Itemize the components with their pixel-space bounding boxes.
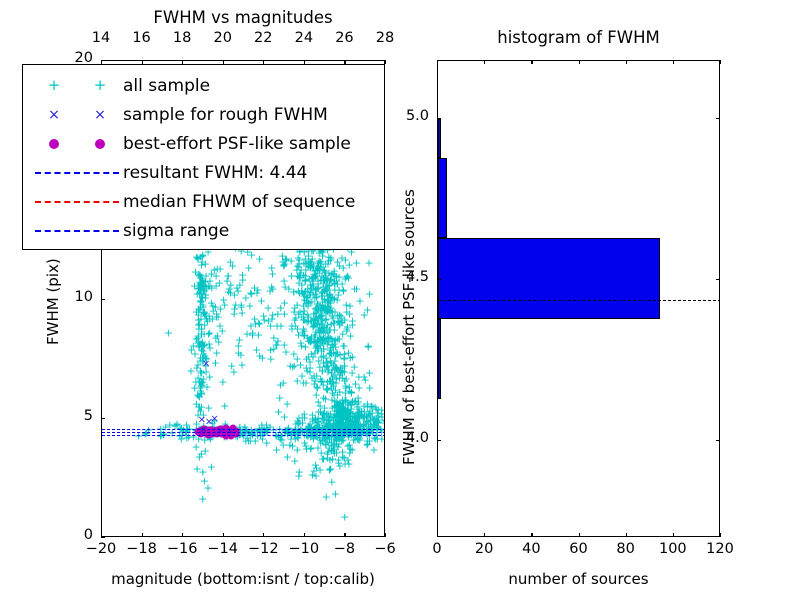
scatter-point-all-sample: + — [350, 398, 359, 407]
scatter-point-all-sample: + — [343, 455, 352, 464]
legend-marker-plus-icon: ++ — [31, 76, 123, 96]
scatter-point-all-sample: + — [326, 464, 335, 473]
right-x-tick — [626, 60, 627, 64]
scatter-point-all-sample: + — [365, 384, 374, 393]
scatter-point-all-sample: + — [194, 269, 203, 278]
legend-dot-icon — [49, 139, 59, 149]
scatter-point-all-sample: + — [317, 291, 326, 300]
legend-item-3: resultant FWHM: 4.44 — [31, 158, 374, 187]
right-y-tick — [437, 118, 441, 119]
scatter-point-rough-fwhm: × — [210, 415, 218, 424]
figure-canvas: FWHM vs magnitudes +++++++++++++++++++++… — [0, 0, 800, 600]
scatter-point-all-sample: + — [198, 495, 207, 504]
left-x-tick — [304, 533, 305, 537]
legend-marker-dot-icon — [31, 134, 123, 154]
scatter-point-all-sample: + — [251, 319, 260, 328]
scatter-point-all-sample: + — [193, 465, 202, 474]
scatter-point-all-sample: + — [263, 303, 272, 312]
right-x-tick — [579, 60, 580, 64]
scatter-point-all-sample: + — [304, 252, 313, 261]
right-x-tick — [531, 60, 532, 64]
right-yaxis-label: FWHM of best-effort PSF-like sources — [400, 189, 418, 465]
histogram-data-layer — [438, 61, 719, 536]
legend-item-label: resultant FWHM: 4.44 — [123, 163, 307, 183]
scatter-point-all-sample: + — [218, 378, 227, 387]
scatter-point-all-sample: + — [196, 297, 205, 306]
right-x-tick — [531, 533, 532, 537]
right-panel-title: histogram of FWHM — [437, 28, 720, 47]
left-x-tick — [385, 60, 386, 64]
scatter-point-all-sample: + — [313, 443, 322, 452]
scatter-point-all-sample: + — [369, 445, 378, 454]
scatter-point-all-sample: + — [350, 363, 359, 372]
scatter-point-all-sample: + — [365, 368, 374, 377]
scatter-point-all-sample: + — [327, 335, 336, 344]
scatter-point-all-sample: + — [286, 361, 295, 370]
scatter-point-all-sample: + — [339, 286, 348, 295]
scatter-point-all-sample: + — [359, 413, 368, 422]
scatter-point-all-sample: + — [347, 429, 356, 438]
histogram-bar — [438, 319, 441, 400]
scatter-point-all-sample: + — [229, 368, 238, 377]
right-y-tick — [716, 279, 720, 280]
scatter-point-all-sample: + — [330, 266, 339, 275]
left-bottom-tick-label: −6 — [359, 541, 411, 557]
scatter-point-all-sample: + — [238, 275, 247, 284]
scatter-point-all-sample: + — [203, 483, 212, 492]
right-x-tick-label: 120 — [694, 541, 746, 557]
right-x-tick — [484, 60, 485, 64]
legend-marker-cross-icon: ×× — [31, 105, 123, 125]
legend-box: ++all sample××sample for rough FWHMbest-… — [22, 64, 385, 250]
scatter-point-all-sample: + — [322, 492, 331, 501]
scatter-point-all-sample: + — [204, 329, 213, 338]
scatter-point-all-sample: + — [197, 450, 206, 459]
right-x-tick — [673, 533, 674, 537]
scatter-point-all-sample: + — [315, 249, 324, 258]
scatter-point-all-sample: + — [234, 348, 243, 357]
left-xaxis-label: magnitude (bottom:isnt / top:calib) — [101, 570, 385, 588]
scatter-point-all-sample: + — [311, 460, 320, 469]
scatter-point-all-sample: + — [348, 321, 357, 330]
legend-line-sample — [35, 230, 119, 232]
scatter-point-all-sample: + — [325, 443, 334, 452]
left-y-tick-label: 0 — [45, 527, 93, 543]
right-x-tick — [626, 533, 627, 537]
right-x-tick — [484, 533, 485, 537]
scatter-point-all-sample: + — [283, 453, 292, 462]
left-x-tick — [385, 533, 386, 537]
scatter-point-all-sample: + — [220, 401, 229, 410]
scatter-point-all-sample: + — [317, 307, 326, 316]
histogram-median-line — [438, 300, 719, 301]
left-top-tick-label: 28 — [359, 30, 411, 46]
legend-item-4: median FHWM of sequence — [31, 187, 374, 216]
scatter-point-all-sample: + — [294, 471, 303, 480]
scatter-point-all-sample: + — [343, 271, 352, 280]
legend-item-1: ××sample for rough FWHM — [31, 100, 374, 129]
scatter-point-all-sample: + — [352, 259, 361, 268]
left-y-tick — [101, 418, 105, 419]
scatter-point-all-sample: + — [237, 360, 246, 369]
right-y-tick — [437, 279, 441, 280]
legend-line-icon — [31, 192, 123, 212]
left-x-tick — [263, 533, 264, 537]
left-x-tick — [182, 533, 183, 537]
left-y-tick — [101, 299, 105, 300]
legend-item-label: sample for rough FWHM — [123, 105, 328, 125]
scatter-point-all-sample: + — [293, 446, 302, 455]
scatter-point-all-sample: + — [197, 390, 206, 399]
scatter-point-all-sample: + — [293, 272, 302, 281]
right-y-tick — [716, 440, 720, 441]
sigma-range-line-upper — [102, 429, 384, 430]
left-x-tick — [142, 533, 143, 537]
scatter-point-all-sample: + — [212, 349, 221, 358]
right-y-tick — [716, 118, 720, 119]
scatter-point-all-sample: + — [207, 463, 216, 472]
scatter-point-all-sample: + — [272, 445, 281, 454]
scatter-point-all-sample: + — [199, 308, 208, 317]
right-y-tick — [437, 440, 441, 441]
scatter-point-all-sample: + — [374, 418, 383, 427]
scatter-point-all-sample: + — [354, 383, 363, 392]
scatter-point-all-sample: + — [286, 256, 295, 265]
scatter-point-all-sample: + — [340, 513, 349, 522]
right-x-tick — [437, 60, 438, 64]
scatter-point-all-sample: + — [197, 378, 206, 387]
scatter-point-all-sample: + — [212, 313, 221, 322]
scatter-point-all-sample: + — [296, 360, 305, 369]
scatter-point-all-sample: + — [364, 258, 373, 267]
right-x-tick-label: 20 — [458, 541, 510, 557]
legend-plus-icon: + — [48, 78, 61, 93]
right-x-tick-label: 0 — [411, 541, 463, 557]
legend-line-icon — [31, 163, 123, 183]
scatter-point-all-sample: + — [352, 285, 361, 294]
scatter-point-all-sample: + — [301, 442, 310, 451]
histogram-bar — [438, 119, 441, 158]
scatter-point-all-sample: + — [355, 296, 364, 305]
scatter-point-all-sample: + — [290, 316, 299, 325]
scatter-point-all-sample: + — [267, 283, 276, 292]
scatter-point-all-sample: + — [309, 321, 318, 330]
scatter-point-all-sample: + — [322, 361, 331, 370]
scatter-point-all-sample: + — [267, 315, 276, 324]
scatter-point-all-sample: + — [164, 328, 173, 337]
scatter-point-all-sample: + — [228, 262, 237, 271]
legend-cross-icon: × — [48, 108, 60, 122]
scatter-point-all-sample: + — [223, 272, 232, 281]
scatter-point-all-sample: + — [246, 289, 255, 298]
scatter-point-all-sample: + — [274, 408, 283, 417]
scatter-point-all-sample: + — [235, 335, 244, 344]
scatter-point-all-sample: + — [210, 266, 219, 275]
right-x-tick-label: 40 — [505, 541, 557, 557]
right-x-tick — [437, 533, 438, 537]
scatter-point-all-sample: + — [334, 429, 343, 438]
right-x-tick-label: 100 — [647, 541, 699, 557]
histogram-bar — [438, 158, 447, 239]
scatter-point-all-sample: + — [211, 358, 220, 367]
scatter-point-all-sample: + — [276, 380, 285, 389]
scatter-point-all-sample: + — [359, 401, 368, 410]
scatter-point-all-sample: + — [327, 319, 336, 328]
scatter-point-all-sample: + — [313, 266, 322, 275]
right-x-tick-label: 80 — [600, 541, 652, 557]
legend-line-sample — [35, 201, 119, 203]
left-x-tick — [344, 533, 345, 537]
scatter-point-all-sample: + — [360, 310, 369, 319]
scatter-point-all-sample: + — [211, 281, 220, 290]
legend-item-label: best-effort PSF-like sample — [123, 134, 351, 154]
scatter-point-rough-fwhm: × — [202, 360, 210, 369]
scatter-point-all-sample: + — [339, 342, 348, 351]
scatter-point-all-sample: + — [218, 326, 227, 335]
scatter-point-all-sample: + — [373, 409, 382, 418]
scatter-point-all-sample: + — [327, 478, 336, 487]
scatter-point-all-sample: + — [365, 289, 374, 298]
scatter-point-all-sample: + — [280, 298, 289, 307]
scatter-point-all-sample: + — [248, 331, 257, 340]
scatter-point-all-sample: + — [334, 399, 343, 408]
left-y-tick — [101, 537, 105, 538]
right-y-tick-label: 5.0 — [381, 108, 429, 124]
scatter-point-all-sample: + — [244, 263, 253, 272]
legend-item-0: ++all sample — [31, 71, 374, 100]
scatter-point-all-sample: + — [329, 349, 338, 358]
scatter-point-all-sample: + — [194, 403, 203, 412]
left-y-tick — [101, 60, 105, 61]
legend-item-label: all sample — [123, 76, 210, 96]
left-y-tick-label: 5 — [45, 408, 93, 424]
legend-item-label: median FHWM of sequence — [123, 192, 355, 212]
right-xaxis-label: number of sources — [437, 570, 720, 588]
scatter-point-all-sample: + — [317, 377, 326, 386]
right-x-tick — [720, 533, 721, 537]
legend-item-label: sigma range — [123, 221, 229, 241]
scatter-point-all-sample: + — [336, 368, 345, 377]
left-yaxis-label: FWHM (pix) — [44, 258, 62, 345]
legend-item-5: sigma range — [31, 216, 374, 245]
legend-line-sample — [35, 172, 119, 174]
right-x-tick — [673, 60, 674, 64]
histogram-bar — [438, 238, 660, 319]
right-x-tick — [579, 533, 580, 537]
scatter-point-all-sample: + — [269, 334, 278, 343]
scatter-point-all-sample: + — [331, 490, 340, 499]
legend-line-icon — [31, 221, 123, 241]
legend-plus-icon: + — [94, 78, 107, 93]
legend-dot-icon — [95, 139, 105, 149]
scatter-point-all-sample: + — [319, 345, 328, 354]
left-x-tick — [223, 533, 224, 537]
left-panel-title: FWHM vs magnitudes — [101, 8, 385, 27]
legend-item-2: best-effort PSF-like sample — [31, 129, 374, 158]
scatter-point-all-sample: + — [364, 341, 373, 350]
scatter-point-all-sample: + — [282, 399, 291, 408]
scatter-point-all-sample: + — [208, 302, 217, 311]
scatter-point-all-sample: + — [255, 255, 264, 264]
scatter-point-all-sample: + — [314, 408, 323, 417]
right-x-tick — [720, 60, 721, 64]
scatter-point-all-sample: + — [266, 346, 275, 355]
scatter-point-all-sample: + — [226, 289, 235, 298]
right-x-tick-label: 60 — [553, 541, 605, 557]
scatter-point-all-sample: + — [194, 331, 203, 340]
scatter-point-all-sample: + — [268, 269, 277, 278]
histogram-axes — [437, 60, 720, 537]
legend-cross-icon: × — [94, 108, 106, 122]
resultant-fwhm-line — [102, 432, 384, 433]
scatter-point-all-sample: + — [198, 250, 207, 259]
sigma-range-line-lower — [102, 435, 384, 436]
